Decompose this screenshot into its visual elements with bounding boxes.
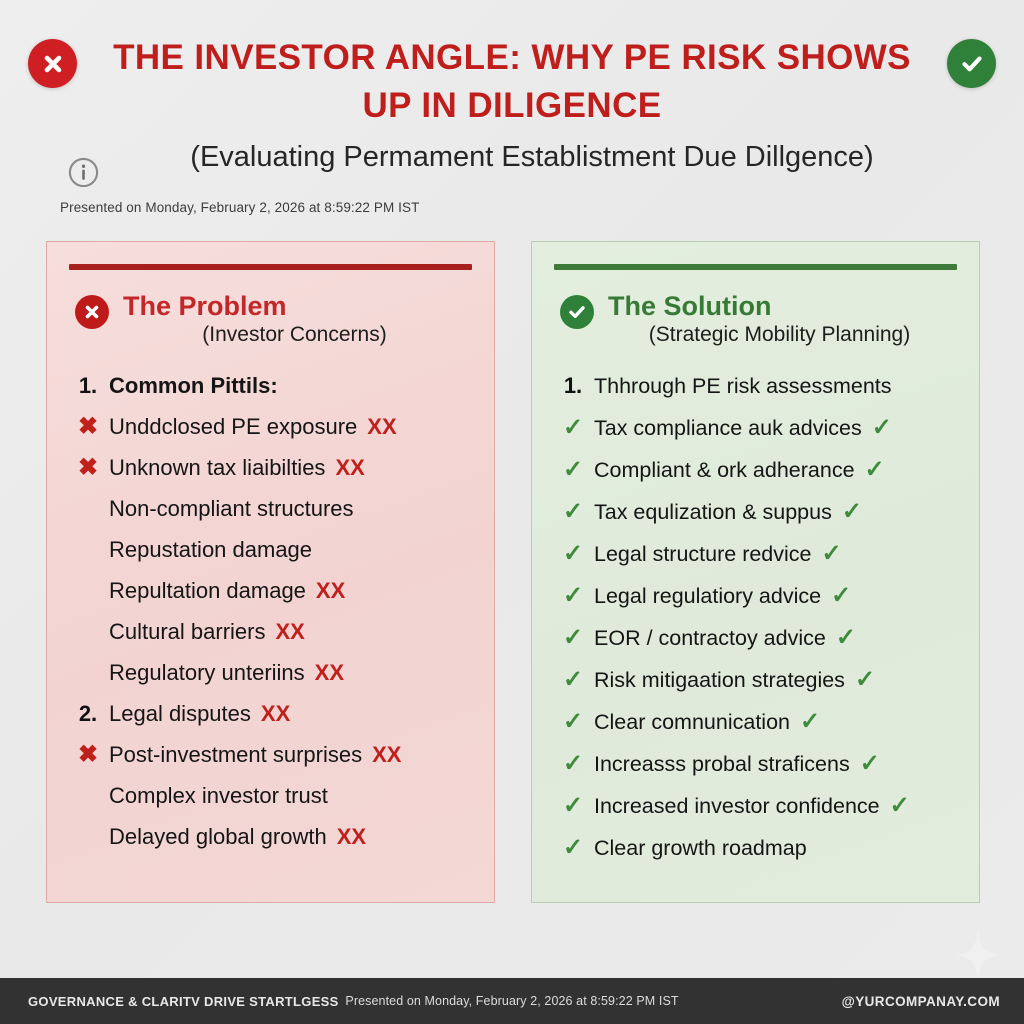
list-number: 2.: [67, 693, 109, 734]
list-item: ✖Post-investment surprisesXX: [67, 734, 474, 775]
footer-tagline: GOVERNANCE & CLARITV DRIVE STARTLGESS: [28, 994, 339, 1009]
list-item-label: Regulatory unteriins: [109, 652, 305, 693]
problem-subtitle: (Investor Concerns): [123, 323, 476, 347]
list-item-label: Complex investor trust: [109, 775, 328, 816]
list-item: ✓EOR / contractoy advice✓: [552, 617, 959, 659]
list-item: 2.Legal disputesXX: [67, 693, 474, 734]
presented-timestamp: Presented on Monday, February 2, 2026 at…: [60, 200, 419, 215]
check-mark-icon: ✓: [552, 575, 594, 616]
list-item: Repultation damageXX: [67, 570, 474, 611]
circle-check-icon: [947, 39, 996, 88]
trailing-check-icon: ✓: [836, 617, 856, 658]
trailing-xx-marker: XX: [261, 693, 290, 734]
info-circle-icon: [66, 155, 101, 190]
problem-title: The Problem: [123, 292, 476, 321]
list-item-label: Increased investor confidence: [594, 786, 880, 827]
trailing-xx-marker: XX: [372, 734, 401, 775]
circle-x-icon: [75, 295, 109, 329]
list-item: ✓Risk mitigaation strategies✓: [552, 659, 959, 701]
list-item: 1.Common Pittils:: [67, 365, 474, 406]
list-item: Repustation damage: [67, 529, 474, 570]
list-bullet-spacer: [67, 611, 109, 652]
list-item-label: Unddclosed PE exposure: [109, 406, 357, 447]
trailing-check-icon: ✓: [865, 449, 885, 490]
solution-title: The Solution: [608, 292, 961, 321]
solution-accent-rule: [554, 264, 957, 270]
trailing-xx-marker: XX: [276, 611, 305, 652]
x-mark-icon: ✖: [67, 406, 109, 447]
problem-panel-header: The Problem (Investor Concerns): [65, 292, 476, 347]
list-item: Non-compliant structures: [67, 488, 474, 529]
list-item-label: Compliant & ork adherance: [594, 450, 855, 491]
problem-panel: The Problem (Investor Concerns) 1.Common…: [46, 241, 495, 903]
list-number: 1.: [552, 365, 594, 406]
list-item: ✓Increased investor confidence✓: [552, 785, 959, 827]
list-item-label: Clear growth roadmap: [594, 828, 807, 869]
problem-accent-rule: [69, 264, 472, 270]
list-item: ✓Tax compliance auk advices✓: [552, 407, 959, 449]
check-mark-icon: ✓: [552, 785, 594, 826]
list-item: ✓Compliant & ork adherance✓: [552, 449, 959, 491]
list-bullet-spacer: [67, 488, 109, 529]
list-item-label: Repustation damage: [109, 529, 312, 570]
trailing-check-icon: ✓: [890, 785, 910, 826]
list-bullet-spacer: [67, 652, 109, 693]
trailing-xx-marker: XX: [315, 652, 344, 693]
list-item: ✓Legal structure redvice✓: [552, 533, 959, 575]
problem-list: 1.Common Pittils: ✖Unddclosed PE exposur…: [65, 365, 476, 857]
trailing-check-icon: ✓: [842, 491, 862, 532]
list-item-label: Repultation damage: [109, 570, 306, 611]
trailing-check-icon: ✓: [831, 575, 851, 616]
trailing-xx-marker: XX: [335, 447, 364, 488]
list-item: ✖Unddclosed PE exposureXX: [67, 406, 474, 447]
list-item: Regulatory unteriinsXX: [67, 652, 474, 693]
trailing-check-icon: ✓: [860, 743, 880, 784]
list-item-label: Legal disputes: [109, 693, 251, 734]
list-item-label: Legal regulatiory advice: [594, 576, 821, 617]
list-item: ✓Tax equlization & suppus✓: [552, 491, 959, 533]
solution-panel: The Solution (Strategic Mobility Plannin…: [531, 241, 980, 903]
list-item: ✓Clear growth roadmap: [552, 827, 959, 869]
list-item-label: Increasss probal straficens: [594, 744, 850, 785]
list-item-label: Non-compliant structures: [109, 488, 354, 529]
list-item-label: Delayed global growth: [109, 816, 327, 857]
check-mark-icon: ✓: [552, 827, 594, 868]
page-title: THE INVESTOR ANGLE: WHY PE RISK SHOWS UP…: [108, 34, 916, 131]
list-item-label: Post-investment surprises: [109, 734, 362, 775]
trailing-xx-marker: XX: [316, 570, 345, 611]
list-item: Complex investor trust: [67, 775, 474, 816]
list-bullet-spacer: [67, 570, 109, 611]
list-item-label: EOR / contractoy advice: [594, 618, 826, 659]
list-bullet-spacer: [67, 775, 109, 816]
list-item: ✓Legal regulatiory advice✓: [552, 575, 959, 617]
trailing-check-icon: ✓: [872, 407, 892, 448]
footer-website[interactable]: @YURCOMPANAY.COM: [842, 994, 1000, 1009]
circle-check-icon: [560, 295, 594, 329]
check-mark-icon: ✓: [552, 533, 594, 574]
list-item: ✓Clear comnunication✓: [552, 701, 959, 743]
trailing-check-icon: ✓: [855, 659, 875, 700]
check-mark-icon: ✓: [552, 449, 594, 490]
list-bullet-spacer: [67, 529, 109, 570]
list-item: ✖Unknown tax liaibiltiesXX: [67, 447, 474, 488]
check-mark-icon: ✓: [552, 491, 594, 532]
list-item-label: Tax compliance auk advices: [594, 408, 862, 449]
check-mark-icon: ✓: [552, 659, 594, 700]
trailing-check-icon: ✓: [800, 701, 820, 742]
check-mark-icon: ✓: [552, 407, 594, 448]
solution-list: 1.Thhrough PE risk assessments ✓Tax comp…: [550, 365, 961, 869]
list-item-label: Clear comnunication: [594, 702, 790, 743]
list-item-label: Tax equlization & suppus: [594, 492, 832, 533]
trailing-xx-marker: XX: [367, 406, 396, 447]
solution-subtitle: (Strategic Mobility Planning): [608, 323, 961, 347]
x-mark-icon: ✖: [67, 734, 109, 775]
page-subtitle: (Evaluating Permament Establistment Due …: [110, 140, 954, 175]
list-item-label: Legal structure redvice: [594, 534, 812, 575]
solution-panel-header: The Solution (Strategic Mobility Plannin…: [550, 292, 961, 347]
trailing-check-icon: ✓: [822, 533, 842, 574]
check-mark-icon: ✓: [552, 617, 594, 658]
list-item: Cultural barriersXX: [67, 611, 474, 652]
x-mark-icon: ✖: [67, 447, 109, 488]
trailing-xx-marker: XX: [337, 816, 366, 857]
slide-header: THE INVESTOR ANGLE: WHY PE RISK SHOWS UP…: [0, 0, 1024, 232]
sparkle-icon: [956, 928, 1000, 982]
list-item-label: Thhrough PE risk assessments: [594, 366, 892, 407]
list-item: Delayed global growthXX: [67, 816, 474, 857]
list-number: 1.: [67, 365, 109, 406]
circle-x-icon: [28, 39, 77, 88]
slide-canvas: THE INVESTOR ANGLE: WHY PE RISK SHOWS UP…: [0, 0, 1024, 1024]
list-item: ✓Increasss probal straficens✓: [552, 743, 959, 785]
list-item-label: Unknown tax liaibilties: [109, 447, 325, 488]
list-item-label: Common Pittils:: [109, 365, 278, 406]
list-item-label: Risk mitigaation strategies: [594, 660, 845, 701]
list-item: 1.Thhrough PE risk assessments: [552, 365, 959, 407]
footer-timestamp: Presented on Monday, February 2, 2026 at…: [345, 994, 678, 1008]
comparison-panels: The Problem (Investor Concerns) 1.Common…: [46, 241, 980, 903]
check-mark-icon: ✓: [552, 701, 594, 742]
check-mark-icon: ✓: [552, 743, 594, 784]
slide-footer: GOVERNANCE & CLARITV DRIVE STARTLGESS Pr…: [0, 978, 1024, 1024]
list-item-label: Cultural barriers: [109, 611, 266, 652]
list-bullet-spacer: [67, 816, 109, 857]
